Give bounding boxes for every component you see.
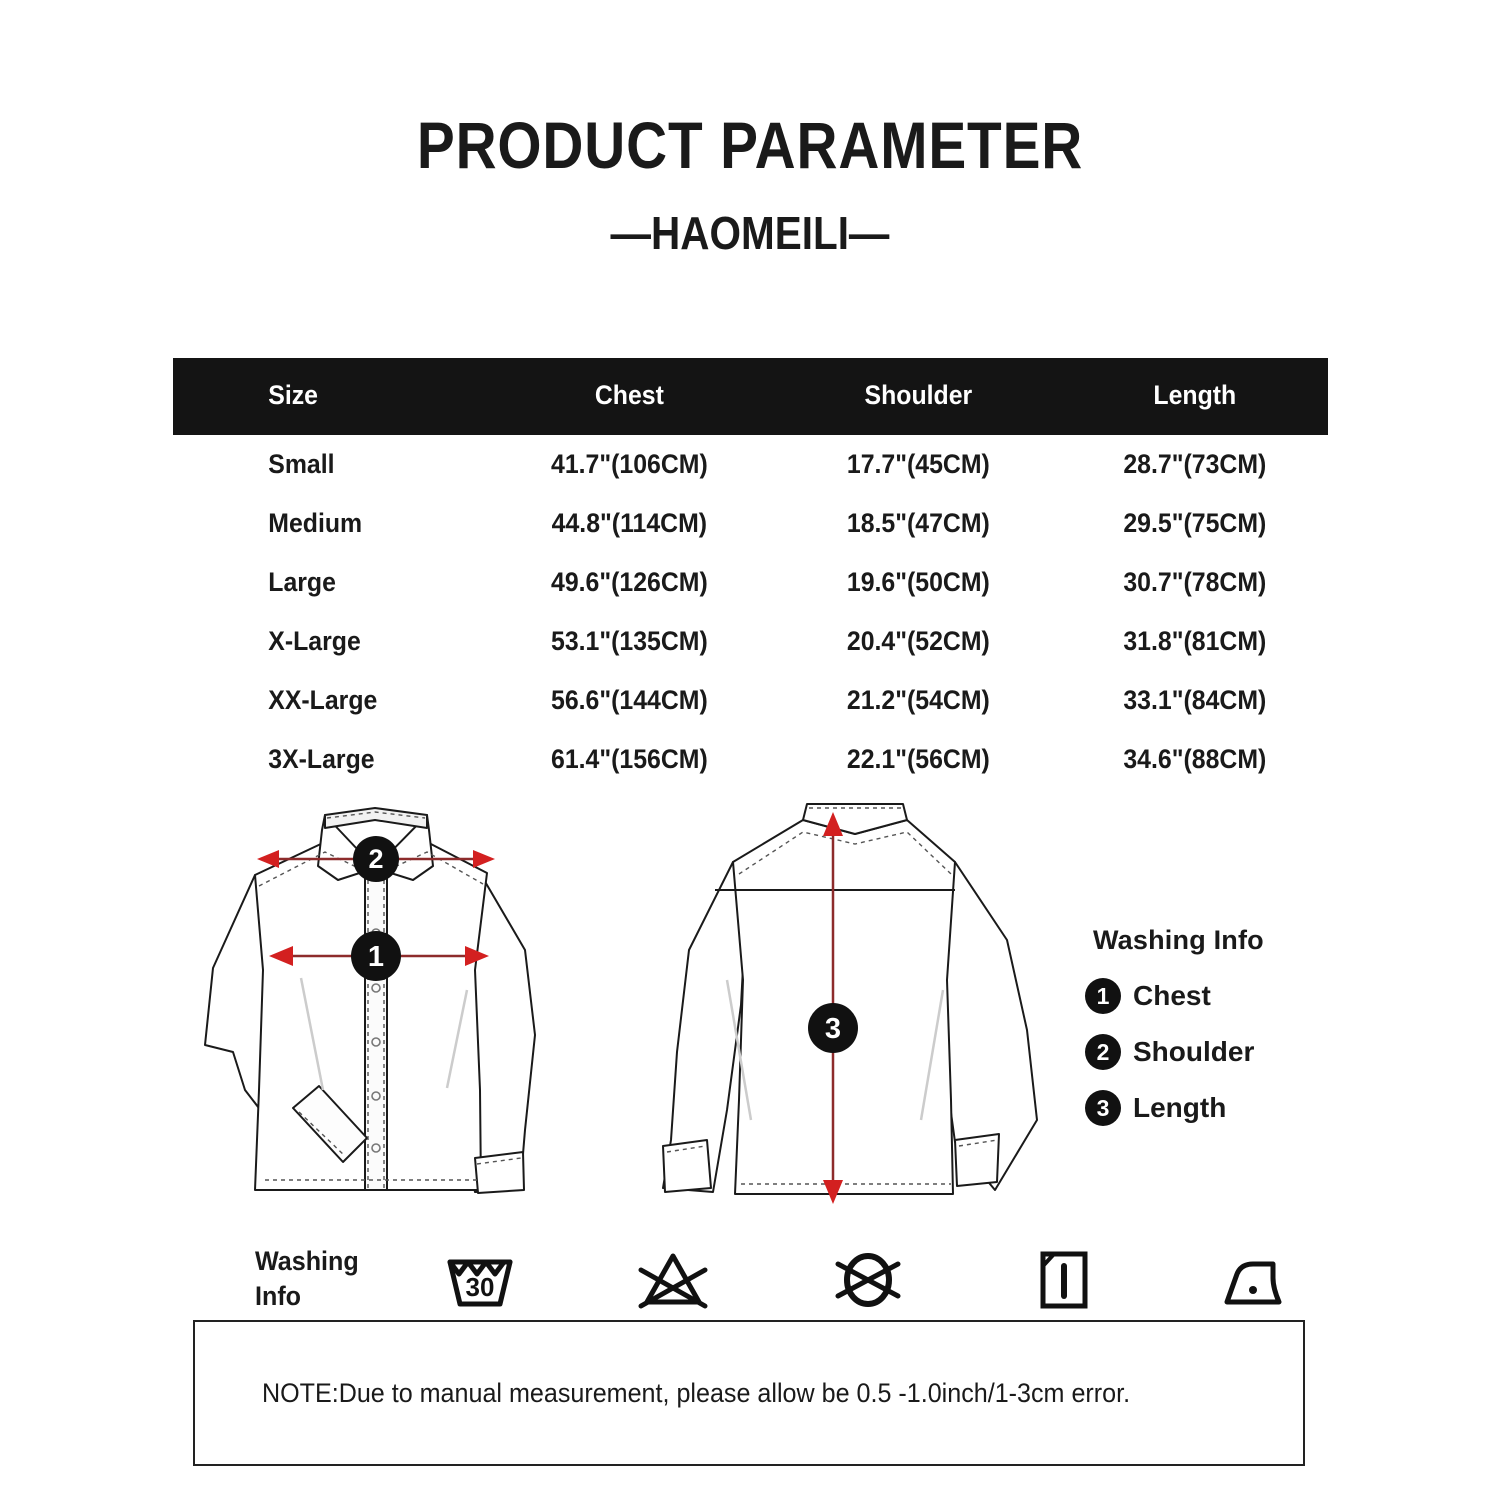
cell-length: 29.5"(75CM) [1073,494,1317,553]
cell-length: 30.7"(78CM) [1073,553,1317,612]
cell-shoulder: 17.7"(45CM) [785,435,1051,494]
cell-size: 3X-Large [185,730,472,789]
cell-chest: 41.7"(106CM) [496,435,762,494]
table-row: 3X-Large 61.4"(156CM) 22.1"(56CM) 34.6"(… [173,730,1328,789]
wash-temperature-value: 30 [466,1272,495,1302]
cell-size: Large [185,553,472,612]
legend-item-chest: 1 Chest [1085,978,1325,1014]
table-header-row: Size Chest Shoulder Length [173,358,1328,435]
cell-length: 33.1"(84CM) [1073,671,1317,730]
brand-name: —HAOMEILI— [90,206,1410,260]
cell-chest: 56.6"(144CM) [496,671,762,730]
washing-info-label-line1: Washing [255,1244,359,1279]
column-header-chest: Chest [496,358,762,435]
cell-length: 28.7"(73CM) [1073,435,1317,494]
table-row: XX-Large 56.6"(144CM) 21.2"(54CM) 33.1"(… [173,671,1328,730]
cell-shoulder: 20.4"(52CM) [785,612,1051,671]
cell-shoulder: 18.5"(47CM) [785,494,1051,553]
legend-item-shoulder: 2 Shoulder [1085,1034,1325,1070]
table-row: Medium 44.8"(114CM) 18.5"(47CM) 29.5"(75… [173,494,1328,553]
legend-title: Washing Info [1093,925,1325,956]
do-not-dry-clean-icon [828,1240,908,1320]
washing-symbols-row: Washing Info 30 [255,1240,1330,1330]
legend-item-length: 3 Length [1085,1090,1325,1126]
table-row: Large 49.6"(126CM) 19.6"(50CM) 30.7"(78C… [173,553,1328,612]
cell-size: Medium [185,494,472,553]
cell-chest: 49.6"(126CM) [496,553,762,612]
cell-shoulder: 19.6"(50CM) [785,553,1051,612]
drip-dry-icon [1023,1240,1103,1320]
marker-badge-1-number: 1 [368,941,384,973]
legend-label-length: Length [1133,1092,1226,1124]
legend-label-shoulder: Shoulder [1133,1036,1254,1068]
cell-size: XX-Large [185,671,472,730]
washing-info-label-line2: Info [255,1279,359,1314]
legend-badge-3: 3 [1085,1090,1121,1126]
column-header-length: Length [1073,358,1317,435]
table-row: X-Large 53.1"(135CM) 20.4"(52CM) 31.8"(8… [173,612,1328,671]
machine-wash-30-icon: 30 [440,1240,520,1320]
cell-shoulder: 21.2"(54CM) [785,671,1051,730]
cell-chest: 61.4"(156CM) [496,730,762,789]
shirt-front-illustration: 2 1 [175,790,595,1235]
cell-length: 34.6"(88CM) [1073,730,1317,789]
table-row: Small 41.7"(106CM) 17.7"(45CM) 28.7"(73C… [173,435,1328,494]
note-box: NOTE:Due to manual measurement, please a… [193,1320,1305,1466]
cell-length: 31.8"(81CM) [1073,612,1317,671]
cell-size: X-Large [185,612,472,671]
legend-label-chest: Chest [1133,980,1211,1012]
measurement-legend: Washing Info 1 Chest 2 Shoulder 3 Length [1085,925,1325,1146]
column-header-shoulder: Shoulder [785,358,1051,435]
do-not-bleach-icon [633,1240,713,1320]
legend-badge-1: 1 [1085,978,1121,1014]
legend-badge-2: 2 [1085,1034,1121,1070]
shirt-back-illustration: 3 [655,790,1055,1235]
iron-low-heat-icon [1215,1240,1295,1320]
header-block: PRODUCT PARAMETER —HAOMEILI— [0,112,1500,260]
size-chart-table: Size Chest Shoulder Length Small 41.7"(1… [173,358,1328,789]
marker-badge-3-number: 3 [825,1013,841,1045]
washing-info-label: Washing Info [255,1244,359,1313]
column-header-size: Size [185,358,472,435]
note-text: NOTE:Due to manual measurement, please a… [195,1378,1130,1409]
marker-badge-2-number: 2 [368,844,383,874]
page-title: PRODUCT PARAMETER [105,112,1395,178]
cell-chest: 53.1"(135CM) [496,612,762,671]
cell-chest: 44.8"(114CM) [496,494,762,553]
cell-size: Small [185,435,472,494]
cell-shoulder: 22.1"(56CM) [785,730,1051,789]
